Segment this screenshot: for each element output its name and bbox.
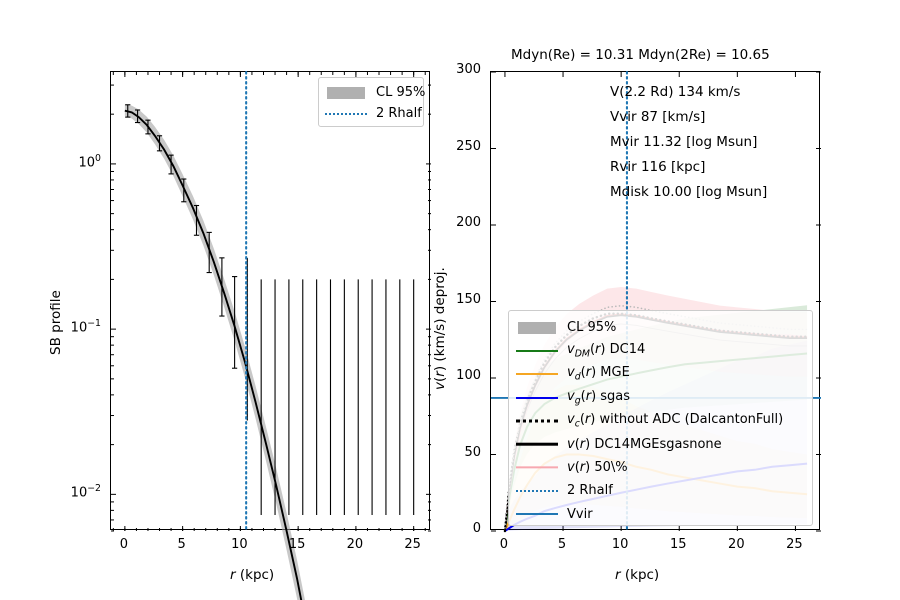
legend-entry[interactable]: vd(r) MGE [516,363,805,386]
legend-label: vd(r) MGE [567,366,630,382]
legend-label: CL 95% [567,321,616,334]
tick-label: 10−1 [71,318,101,335]
legend-entry[interactable]: CL 95% [516,316,805,339]
tick-label: 100 [79,153,102,170]
tick-label: 250 [456,139,481,154]
annotation-line: Vvir 87 [km/s] [610,109,705,125]
sb-cl95-band [125,105,306,600]
legend-label: Vvir [567,508,593,521]
legend-key-dotted-thick [516,414,558,428]
annotation-line: Rvir 116 [kpc] [610,159,705,175]
legend-key-solid [516,344,558,358]
right-panel-title: Mdyn(Re) = 10.31 Mdyn(2Re) = 10.65 [511,47,770,63]
tick-label: 25 [786,537,803,552]
left-yaxis-title: SB profile [48,290,64,355]
legend-label: v(r) 50\% [567,461,628,474]
legend-label: 2 Rhalf [567,484,613,497]
legend-key-dotted [516,484,558,498]
legend-label: vg(r) sgas [567,390,630,406]
legend-key-solid [516,367,558,381]
tick-label: 15 [670,537,687,552]
tick-label: 15 [289,537,306,552]
legend-entry[interactable]: vDM(r) DC14 [516,339,805,362]
tick-label: 300 [456,62,481,77]
tick-label: 20 [347,537,364,552]
legend-entry[interactable]: CL 95% [325,82,417,103]
tick-label: 10 [231,537,248,552]
left-xaxis-title: r (kpc) [230,567,274,583]
tick-label: 200 [456,215,481,230]
legend-label: 2 Rhalf [376,107,422,120]
legend-key-patch [325,86,367,100]
legend-label: CL 95% [376,86,425,99]
annotation-line: Mvir 11.32 [log Msun] [610,134,757,150]
surface-brightness-axes [110,71,430,530]
tick-label: 20 [728,537,745,552]
legend-entry[interactable]: 2 Rhalf [516,479,805,502]
legend-entry[interactable]: v(r) DC14MGEsgasnone [516,432,805,455]
right-yaxis-title: v(r) (km/s) deproj. [432,267,448,390]
legend-key-solid [516,391,558,405]
tick-label: 0 [473,521,481,536]
legend-entry[interactable]: vc(r) without ADC (DalcantonFull) [516,409,805,432]
annotation-line: Mdisk 10.00 [log Msun] [610,184,767,200]
annotation-line: V(2.2 Rd) 134 km/s [610,84,740,100]
legend-key-solid [516,507,558,521]
tick-label: 0 [120,537,128,552]
sb-plot-canvas [111,72,431,531]
tick-label: 10 [612,537,629,552]
legend-entry[interactable]: Vvir [516,502,805,525]
tick-label: 150 [456,292,481,307]
tick-label: 5 [177,537,185,552]
tick-label: 5 [558,537,566,552]
legend-label: v(r) DC14MGEsgasnone [567,438,722,451]
legend-key-solid-thick [516,437,558,451]
legend-key-solid-thin [516,460,558,474]
tick-label: 0 [500,537,508,552]
legend-key-patch [516,321,558,335]
legend-entry[interactable]: 2 Rhalf [325,103,417,124]
legend-entry[interactable]: v(r) 50\% [516,456,805,479]
legend-label: vc(r) without ADC (DalcantonFull) [567,413,783,429]
legend-key-dotted [325,107,367,121]
legend-label: vDM(r) DC14 [567,343,645,359]
tick-label: 10−2 [71,483,101,500]
tick-label: 100 [456,368,481,383]
sb-legend[interactable]: CL 95%2 Rhalf [318,77,424,127]
rotation-curve-legend[interactable]: CL 95%vDM(r) DC14vd(r) MGEvg(r) sgasvc(r… [508,310,813,526]
sb-model-curve [125,111,306,600]
tick-label: 50 [464,445,481,460]
right-xaxis-title: r (kpc) [615,567,659,583]
tick-label: 25 [404,537,421,552]
figure-canvas: r (kpc) SB profile Mdyn(Re) = 10.31 Mdyn… [0,0,900,600]
legend-entry[interactable]: vg(r) sgas [516,386,805,409]
